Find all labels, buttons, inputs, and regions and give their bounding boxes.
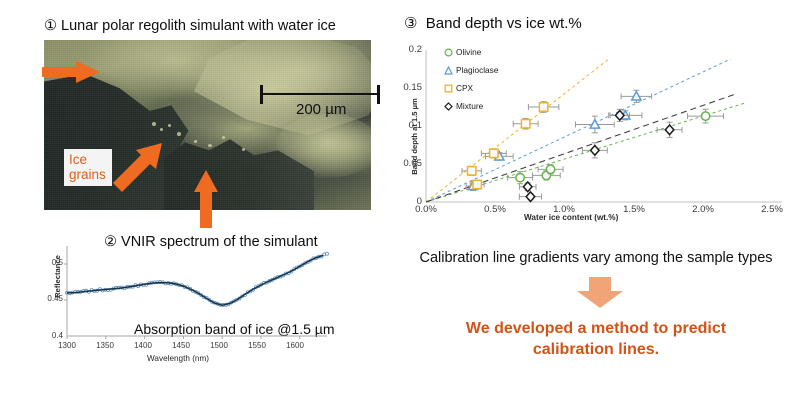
scatter-point-cpx [513,118,538,129]
scatter-data-points [462,90,724,201]
down-arrow-icon [561,277,639,314]
scale-bar-line [260,93,380,95]
spectrum-tick-marks [64,264,300,339]
scatter-point-olivine [508,172,533,184]
conclusion-line-2: calibration lines. [396,339,796,360]
calibration-finding-text: Calibration line gradients vary among th… [396,250,796,266]
scatter-point-cpx [470,180,484,188]
scatter-panel: ③ Band depth vs ice wt.% Band depth at 1… [404,14,796,229]
photo-panel-title-text: Lunar polar regolith simulant with water… [61,18,336,34]
conclusion-line-1: We developed a method to predict [396,318,796,339]
ice-grains-label-line2: grains [69,167,106,182]
scatter-point-cpx [528,102,558,113]
microscope-photo-panel: 200 µm Ice grains [44,40,371,210]
spectrum-fit-curve [67,255,323,305]
scatter-point-plagioclase [575,116,614,133]
scatter-plot-svg [404,14,796,214]
ice-grains-label: Ice grains [64,149,112,186]
scatter-point-mixture [519,192,541,202]
ice-grains-arrow-3 [194,170,220,230]
scale-bar-label: 200 µm [296,101,346,118]
spectrum-data-points [66,252,329,306]
scatter-point-mixture [657,122,682,137]
ice-grains-arrow-2 [110,136,166,192]
ice-grains-label-line1: Ice [69,152,106,167]
scale-bar-right-cap [377,85,380,104]
scale-bar-left-cap [260,85,263,104]
photo-panel-title: ① Lunar polar regolith simulant with wat… [44,18,336,34]
scatter-point-olivine [533,171,561,180]
vnir-spectrum-panel: ② VNIR spectrum of the simulant Reflecta… [42,232,372,367]
calibration-line-plagioclase [426,59,730,202]
conclusion-text: We developed a method to predict calibra… [396,318,796,360]
scatter-point-olivine [688,109,724,123]
scale-bar [260,93,380,94]
spectrum-plot-svg [42,232,372,367]
ice-grains-arrow-1 [42,60,102,84]
scatter-point-cpx [462,166,481,175]
scatter-point-mixture [582,143,607,158]
scatter-point-plagioclase [621,90,651,102]
photo-panel-marker: ① [44,18,57,34]
